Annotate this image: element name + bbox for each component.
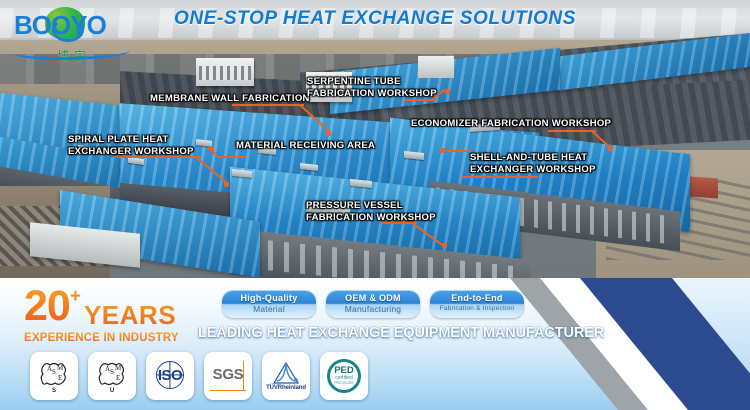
- tagline: LEADING HEAT EXCHANGE EQUIPMENT MANUFACT…: [198, 325, 558, 341]
- asme-icon: A S M E: [98, 361, 126, 387]
- cert-badge-tuv[interactable]: TÜVRheinland: [262, 352, 310, 400]
- svg-text:E: E: [58, 374, 62, 382]
- logo-wordmark: BOOYO: [14, 12, 134, 38]
- cert-badge-asme-s[interactable]: A S M E S: [30, 352, 78, 400]
- sgs-accent-horizontal: [210, 390, 246, 391]
- pill-subtitle: Manufacturing: [330, 304, 416, 314]
- callout-pressure-vessel: PRESSURE VESSEL FABRICATION WORKSHOP: [306, 200, 436, 223]
- pill-title: High-Quality: [226, 293, 312, 304]
- callout-material-receiving: MATERIAL RECEIVING AREA: [236, 140, 375, 152]
- feature-pill-end-to-end[interactable]: End-to-End Fabrication & Inspection: [430, 290, 524, 318]
- cert-badge-asme-u[interactable]: A S M E U: [88, 352, 136, 400]
- experience-unit: YEARS: [84, 300, 176, 331]
- callout-spiral-plate: SPIRAL PLATE HEAT EXCHANGER WORKSHOP: [68, 134, 194, 157]
- leader-pressure-vessel: [380, 222, 450, 250]
- cert-badge-sgs[interactable]: SGS: [204, 352, 252, 400]
- sgs-icon: SGS: [207, 359, 249, 393]
- cert-caption: U: [110, 388, 114, 394]
- cert-arc-text: PRESSURE: [334, 381, 354, 386]
- callout-membrane-wall: MEMBRANE WALL FABRICATION: [150, 93, 310, 105]
- svg-text:E: E: [116, 374, 120, 382]
- pill-title: OEM & ODM: [330, 293, 416, 304]
- office-block-1: [196, 58, 254, 86]
- callout-serpentine-tube: SERPENTINE TUBE FABRICATION WORKSHOP: [307, 76, 437, 99]
- cert-caption: S: [52, 388, 56, 394]
- ped-icon: PED certified PRESSURE: [327, 359, 361, 393]
- certification-list: A S M E S A S M E U: [30, 352, 368, 400]
- pill-title: End-to-End: [434, 293, 520, 304]
- asme-icon: A S M E: [40, 361, 68, 387]
- logo-wordmark-text: BOOYO: [14, 10, 106, 40]
- experience-subtitle: EXPERIENCE IN INDUSTRY: [24, 332, 179, 344]
- office-block-3: [418, 56, 454, 78]
- leader-shell-and-tube-underline: [462, 176, 542, 184]
- feature-pill-oem-odm[interactable]: OEM & ODM Manufacturing: [326, 290, 420, 318]
- company-logo[interactable]: BOOYO 博宇: [14, 12, 134, 64]
- svg-text:M: M: [57, 364, 64, 372]
- experience-number: 20: [24, 286, 70, 327]
- pill-subtitle: Material: [226, 304, 312, 314]
- svg-text:S: S: [52, 368, 56, 376]
- experience-block: 20 + YEARS EXPERIENCE IN INDUSTRY: [24, 286, 179, 344]
- svg-text:M: M: [115, 364, 122, 372]
- cert-label: PED: [334, 366, 354, 375]
- svg-text:S: S: [110, 368, 114, 376]
- cert-label: TÜVRheinland: [266, 385, 306, 391]
- leader-spiral-plate: [114, 156, 244, 198]
- leader-membrane-wall: [232, 104, 302, 144]
- tuv-triangle-icon: [273, 362, 299, 384]
- feature-pill-high-quality[interactable]: High-Quality Material: [222, 290, 316, 318]
- feature-pill-list: High-Quality Material OEM & ODM Manufact…: [222, 290, 524, 318]
- iso-icon: ISO: [150, 359, 190, 393]
- pill-subtitle: Fabrication & Inspection: [434, 304, 520, 314]
- callout-economizer: ECONOMIZER FABRICATION WORKSHOP: [411, 118, 611, 130]
- sgs-accent-vertical: [243, 361, 244, 391]
- promo-banner: BOOYO 博宇 ONE-STOP HEAT EXCHANGE SOLUTION…: [0, 0, 750, 410]
- cert-label: ISO: [150, 367, 190, 384]
- cert-badge-iso[interactable]: ISO: [146, 352, 194, 400]
- experience-plus: +: [70, 287, 81, 306]
- cert-badge-ped[interactable]: PED certified PRESSURE: [320, 352, 368, 400]
- callout-shell-and-tube: SHELL-AND-TUBE HEAT EXCHANGER WORKSHOP: [470, 152, 596, 175]
